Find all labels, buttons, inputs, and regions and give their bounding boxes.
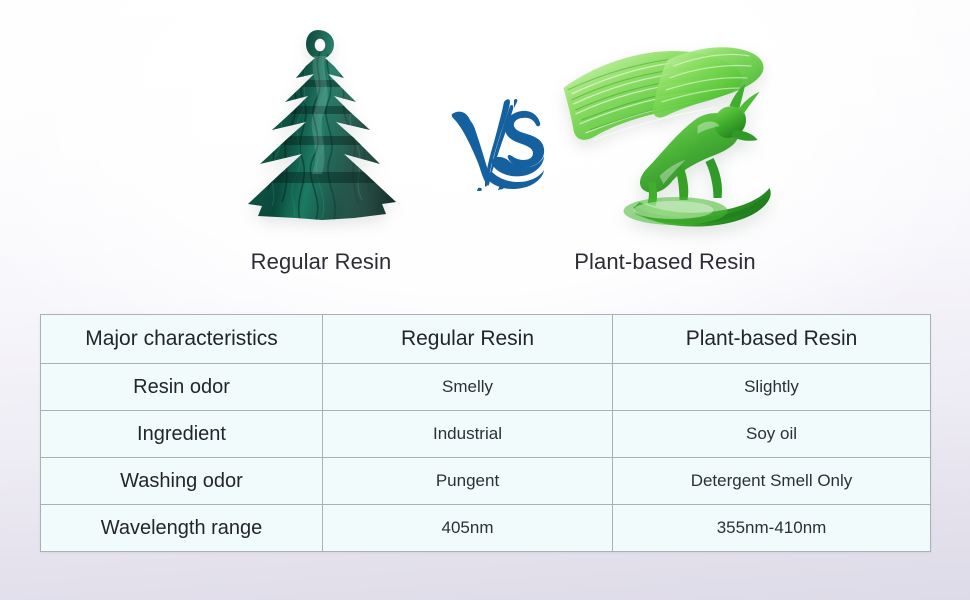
product-plant-based-resin: Plant-based Resin [540, 18, 790, 275]
versus-icon [448, 96, 548, 192]
table-row: Ingredient Industrial Soy oil [41, 411, 931, 458]
dragon-model [548, 26, 783, 231]
row-header-ingredient: Ingredient [41, 411, 323, 458]
cell-regular-ingredient: Industrial [323, 411, 613, 458]
cell-plant-wavelength: 355nm-410nm [613, 505, 931, 552]
cell-plant-resin-odor: Slightly [613, 364, 931, 411]
product-regular-resin: Regular Resin [196, 18, 446, 275]
plant-based-resin-model-stage [540, 18, 790, 233]
regular-resin-label: Regular Resin [196, 249, 446, 275]
comparison-table: Major characteristics Regular Resin Plan… [40, 314, 931, 552]
hero-section: Regular Resin [0, 0, 970, 300]
plant-based-resin-label: Plant-based Resin [540, 249, 790, 275]
column-header-regular-resin: Regular Resin [323, 315, 613, 364]
cell-regular-wavelength: 405nm [323, 505, 613, 552]
row-header-wavelength-range: Wavelength range [41, 505, 323, 552]
table-row: Wavelength range 405nm 355nm-410nm [41, 505, 931, 552]
cell-regular-washing-odor: Pungent [323, 458, 613, 505]
table-row: Washing odor Pungent Detergent Smell Onl… [41, 458, 931, 505]
regular-resin-model-stage [196, 18, 446, 233]
cell-plant-ingredient: Soy oil [613, 411, 931, 458]
row-header-resin-odor: Resin odor [41, 364, 323, 411]
cell-regular-resin-odor: Smelly [323, 364, 613, 411]
column-header-feature: Major characteristics [41, 315, 323, 364]
comparison-infographic: Regular Resin [0, 0, 970, 600]
table-header-row: Major characteristics Regular Resin Plan… [41, 315, 931, 364]
table-row: Resin odor Smelly Slightly [41, 364, 931, 411]
row-header-washing-odor: Washing odor [41, 458, 323, 505]
column-header-plant-based-resin: Plant-based Resin [613, 315, 931, 364]
christmas-tree-model [236, 24, 406, 229]
cell-plant-washing-odor: Detergent Smell Only [613, 458, 931, 505]
